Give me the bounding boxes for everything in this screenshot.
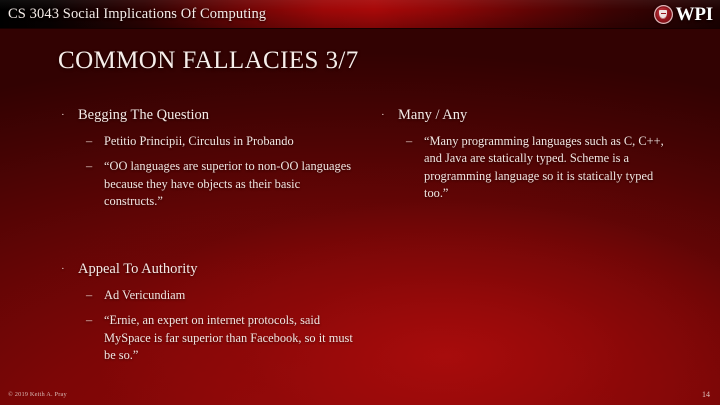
list-item-label: Petitio Principii, Circulus in Probando — [104, 134, 294, 148]
list-item-label: “Ernie, an expert on internet protocols,… — [104, 313, 353, 362]
course-title: CS 3043 Social Implications Of Computing — [8, 0, 266, 28]
wpi-seal-icon — [654, 5, 673, 24]
slide-number: 14 — [702, 390, 710, 399]
bullet-dash-icon: – — [86, 133, 92, 151]
page-title: COMMON FALLACIES 3/7 — [58, 47, 359, 75]
topic-group: · Appeal To Authority – Ad Vericundiam –… — [58, 260, 358, 365]
topic-heading-label: Many / Any — [398, 107, 467, 123]
list-item-label: “Many programming languages such as C, C… — [424, 134, 664, 201]
bullet-dash-icon: – — [86, 158, 92, 176]
list-item: – “OO languages are superior to non-OO l… — [58, 158, 358, 211]
list-item: – “Many programming languages such as C,… — [378, 133, 678, 203]
topic-heading: · Many / Any — [378, 106, 678, 126]
topic-heading-label: Begging The Question — [78, 107, 209, 123]
shield-icon — [659, 10, 667, 19]
bullet-dot-icon: · — [61, 106, 65, 125]
list-item: – Petitio Principii, Circulus in Proband… — [58, 133, 358, 151]
bullet-dash-icon: – — [406, 133, 412, 151]
topic-heading-label: Appeal To Authority — [78, 261, 198, 277]
content-column-right: · Many / Any – “Many programming languag… — [378, 106, 678, 203]
topic-group: · Begging The Question – Petitio Princip… — [58, 106, 358, 211]
list-item: – “Ernie, an expert on internet protocol… — [58, 312, 358, 365]
topic-heading: · Begging The Question — [58, 106, 358, 126]
bullet-dot-icon: · — [61, 260, 65, 279]
copyright-notice: © 2019 Keith A. Pray — [8, 391, 67, 398]
bullet-dash-icon: – — [86, 287, 92, 305]
wpi-branding: WPI — [654, 0, 713, 28]
slide-canvas: CS 3043 Social Implications Of Computing… — [0, 0, 720, 405]
list-item: – Ad Vericundiam — [58, 287, 358, 305]
bullet-dot-icon: · — [381, 106, 385, 125]
wpi-wordmark: WPI — [676, 5, 713, 24]
topic-group: · Many / Any – “Many programming languag… — [378, 106, 678, 203]
list-item-label: “OO languages are superior to non-OO lan… — [104, 159, 351, 208]
list-item-label: Ad Vericundiam — [104, 288, 185, 302]
topic-heading: · Appeal To Authority — [58, 260, 358, 280]
bullet-dash-icon: – — [86, 312, 92, 330]
slide-header-bar: CS 3043 Social Implications Of Computing… — [0, 0, 720, 28]
content-column-left: · Begging The Question – Petitio Princip… — [58, 106, 358, 365]
